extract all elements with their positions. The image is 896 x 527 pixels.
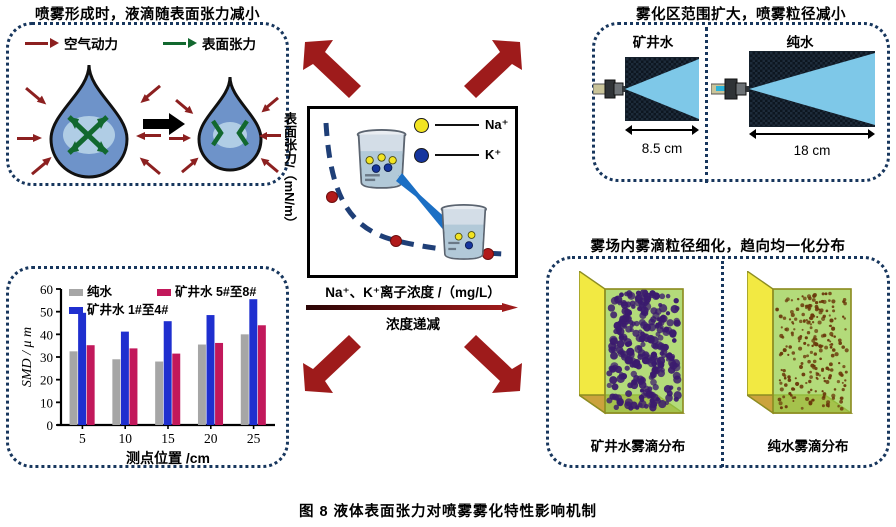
svg-text:0: 0 [47, 418, 54, 433]
svg-text:纯水: 纯水 [87, 284, 113, 299]
svg-text:20: 20 [204, 431, 218, 446]
svg-text:60: 60 [40, 282, 53, 297]
force-arrow-icon [139, 158, 159, 175]
legend-line [435, 124, 479, 126]
smd-bar-chart: 0102030405060510152025测点位置 /cmSMD / μ m纯… [17, 275, 283, 465]
panel-spray-title: 雾化区范围扩大，喷雾粒径减小 [592, 3, 890, 24]
legend-label: 表面张力 [202, 33, 256, 53]
legend-item-na: Na⁺ [414, 117, 508, 133]
panel-field-title: 雾场内雾滴粒径细化，趋向均一化分布 [546, 235, 890, 256]
svg-text:10: 10 [118, 431, 132, 446]
spray-label-pure-water: 纯水 [715, 31, 885, 51]
droplet-large-icon [41, 61, 137, 179]
panel-surface-tension-curve: Na⁺ K⁺ [307, 106, 518, 278]
force-arrow-icon [141, 87, 161, 104]
field-divider [721, 261, 724, 467]
k-dot-icon [414, 148, 429, 163]
svg-text:25: 25 [247, 431, 261, 446]
panel-droplet-formation: 空气动力 表面张力 [6, 22, 289, 186]
spray-cone-pure-water [749, 51, 875, 127]
arrow-right-icon [25, 38, 59, 48]
dimension-label-mine-water: 8.5 cm [619, 141, 705, 156]
tension-curve-svg [310, 109, 515, 275]
concentration-arrow-icon [306, 303, 518, 312]
arrow-right-icon [163, 38, 197, 48]
na-dot-icon [414, 118, 429, 133]
svg-text:50: 50 [40, 305, 53, 320]
spray-label-mine-water: 矿井水 [601, 31, 705, 51]
svg-text:SMD / μ m: SMD / μ m [20, 327, 35, 387]
svg-text:矿井水 5#至8#: 矿井水 5#至8# [175, 284, 256, 299]
field-label-pure-water: 纯水雾滴分布 [725, 435, 891, 455]
svg-text:20: 20 [40, 373, 53, 388]
figure-caption: 图 8 液体表面张力对喷雾雾化特性影响机制 [0, 500, 896, 521]
svg-text:5: 5 [79, 431, 86, 446]
nozzle-icon [711, 75, 751, 103]
transition-arrow-icon [143, 113, 185, 135]
legend-item-air-force: 空气动力 [25, 33, 118, 53]
nozzle-icon [593, 75, 627, 103]
concentration-trend-label: 浓度递减 [300, 313, 526, 333]
panel-droplet-title: 喷雾形成时，液滴随表面张力减小 [6, 3, 289, 24]
svg-text:10: 10 [40, 395, 53, 410]
svg-text:30: 30 [40, 350, 53, 365]
legend-label: 空气动力 [64, 33, 118, 53]
legend-item-k: K⁺ [414, 147, 501, 163]
droplet-box-mine-water [579, 271, 707, 429]
spray-divider [705, 27, 708, 183]
panel-droplet-field: 矿井水雾滴分布 纯水雾滴分布 [546, 256, 890, 468]
legend-item-surface-tension: 表面张力 [163, 33, 256, 53]
panel-smd-chart: 0102030405060510152025测点位置 /cmSMD / μ m纯… [6, 266, 289, 468]
droplet-legend: 空气动力 表面张力 [23, 33, 278, 55]
center-y-axis-label: 表面张力/（mN/m） [276, 112, 302, 282]
dimension-label-pure-water: 18 cm [761, 143, 863, 158]
arrow-downleft-icon [303, 333, 363, 395]
legend-line [435, 154, 479, 156]
droplet-small-icon [191, 73, 269, 173]
arrow-upleft-icon [303, 38, 363, 100]
svg-text:测点位置 /cm: 测点位置 /cm [126, 450, 210, 465]
legend-label: K⁺ [485, 147, 501, 163]
svg-text:15: 15 [161, 431, 175, 446]
svg-text:40: 40 [40, 327, 53, 342]
dimension-line-mine-water [625, 125, 699, 135]
panel-spray-zone: 矿井水 8.5 cm 纯水 18 cm [592, 22, 890, 182]
dimension-line-pure-water [749, 129, 875, 139]
spray-cone-mine-water [625, 57, 699, 121]
svg-text:矿井水 1#至4#: 矿井水 1#至4# [87, 302, 168, 317]
legend-label: Na⁺ [485, 117, 508, 133]
droplet-box-pure-water [747, 271, 875, 429]
arrow-upright-icon [462, 38, 522, 100]
field-label-mine-water: 矿井水雾滴分布 [555, 435, 721, 455]
arrow-downright-icon [462, 333, 522, 395]
center-x-axis-label: Na⁺、K⁺离子浓度 /（mg/L） [300, 281, 526, 301]
